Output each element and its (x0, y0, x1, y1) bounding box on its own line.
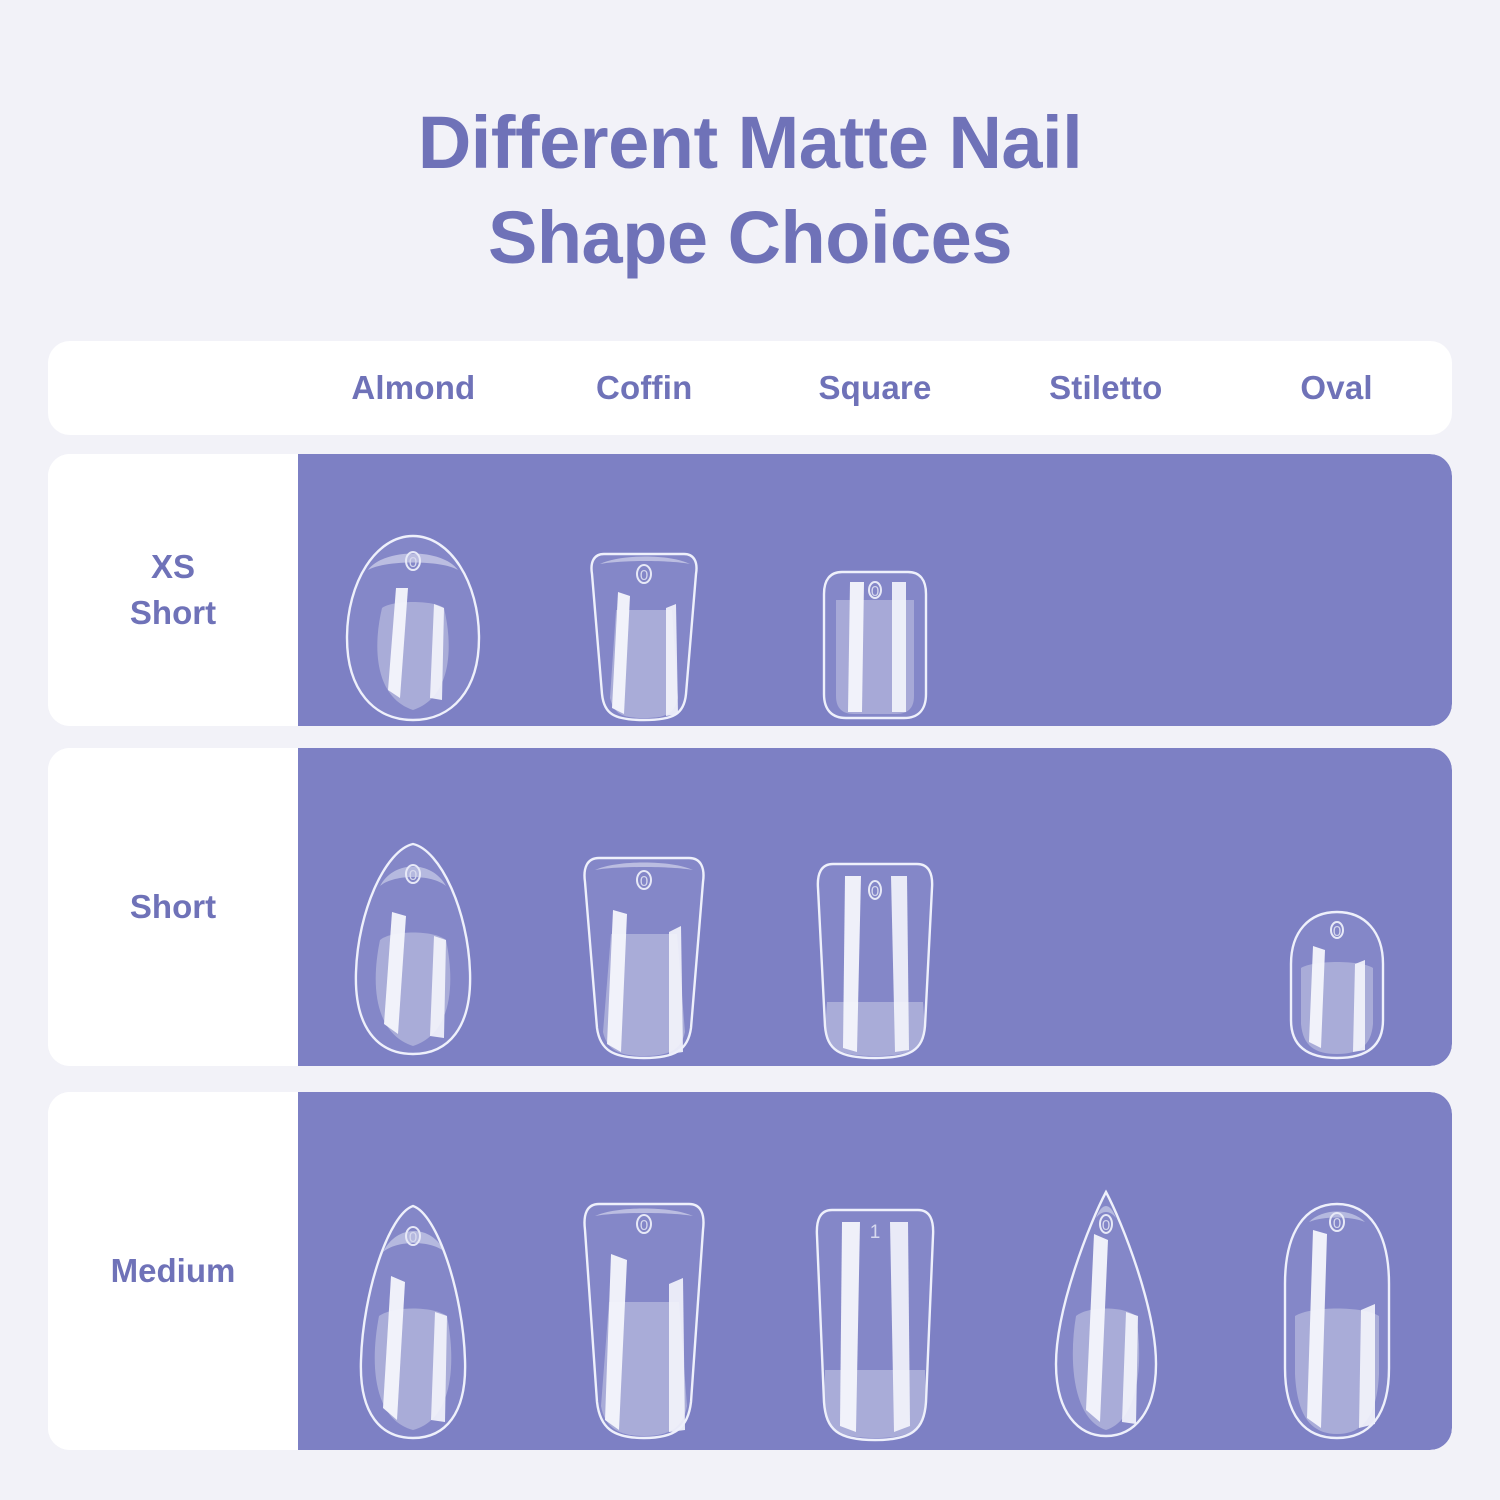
cell-xs-short-coffin: 0 (529, 454, 760, 726)
cell-short-square: 0 (760, 748, 991, 1066)
cell-short-coffin: 0 (529, 748, 760, 1066)
page-title-line-1: Different Matte Nail (418, 101, 1082, 184)
nail-tip-oval-medium: 0 (1273, 1198, 1401, 1450)
column-header-oval: Oval (1221, 369, 1452, 407)
cell-xs-short-almond: 0 (298, 454, 529, 726)
page-title: Different Matte Nail Shape Choices (0, 96, 1500, 285)
nail-size-marking: 0 (1332, 1215, 1340, 1232)
cell-medium-stiletto: 0 (990, 1092, 1221, 1450)
column-header-card: Almond Coffin Square Stiletto Oval (48, 341, 1452, 435)
table-row-short: Short 0 (48, 748, 1452, 1066)
nail-size-marking: 0 (409, 554, 417, 571)
table-row-medium: Medium 0 (48, 1092, 1452, 1450)
row-cells-medium: 0 0 (298, 1092, 1452, 1450)
nail-tip-oval-short: 0 (1281, 906, 1393, 1066)
cell-medium-coffin: 0 (529, 1092, 760, 1450)
row-label-line-2: Short (130, 594, 216, 631)
nail-tip-square-short: 0 (809, 858, 941, 1066)
cell-short-almond: 0 (298, 748, 529, 1066)
row-panel-xs-short: 0 0 (298, 454, 1452, 726)
cell-medium-oval: 0 (1221, 1092, 1452, 1450)
row-panel-medium: 0 0 (298, 1092, 1452, 1450)
cell-short-oval: 0 (1221, 748, 1452, 1066)
row-label-text: Medium (111, 1248, 236, 1294)
nail-size-marking: 0 (640, 1217, 648, 1234)
nail-tip-coffin-xs-short: 0 (574, 548, 714, 726)
nail-size-marking: 0 (1102, 1217, 1110, 1234)
row-cells-short: 0 0 (298, 748, 1452, 1066)
cell-xs-short-square: 0 (760, 454, 991, 726)
column-header-row: Almond Coffin Square Stiletto Oval (298, 341, 1452, 435)
nail-tip-coffin-medium: 0 (569, 1198, 719, 1450)
nail-size-marking: 0 (409, 867, 417, 884)
cell-xs-short-stiletto (990, 454, 1221, 726)
row-label-text: Short (130, 884, 216, 930)
column-header-stiletto: Stiletto (990, 369, 1221, 407)
nail-size-marking: 0 (409, 1229, 417, 1246)
cell-xs-short-oval (1221, 454, 1452, 726)
page-title-line-2: Shape Choices (0, 191, 1500, 286)
nail-tip-stiletto-medium: 0 (1046, 1188, 1166, 1450)
nail-size-marking: 0 (640, 873, 648, 890)
infographic-page: Different Matte Nail Shape Choices Almon… (0, 0, 1500, 1500)
nail-tip-square-medium: 1 (808, 1204, 942, 1450)
nail-tip-almond-medium: 0 (339, 1200, 487, 1450)
table-row-xs-short: XS Short 0 (48, 454, 1452, 726)
row-panel-short: 0 0 (298, 748, 1452, 1066)
column-header-almond: Almond (298, 369, 529, 407)
nail-size-marking: 1 (870, 1222, 881, 1243)
nail-tip-almond-xs-short: 0 (338, 530, 488, 726)
column-header-square: Square (760, 369, 991, 407)
nail-tip-almond-short: 0 (336, 838, 490, 1066)
row-label-short: Short (48, 748, 298, 1066)
nail-size-marking: 0 (871, 883, 879, 900)
row-label-xs-short: XS Short (48, 454, 298, 726)
row-cells-xs-short: 0 0 (298, 454, 1452, 726)
row-label-line-1: XS (151, 548, 195, 585)
nail-size-marking: 0 (871, 583, 879, 600)
cell-short-stiletto (990, 748, 1221, 1066)
nail-size-marking: 0 (1332, 923, 1340, 940)
cell-medium-almond: 0 (298, 1092, 529, 1450)
row-label-medium: Medium (48, 1092, 298, 1450)
cell-medium-square: 1 (760, 1092, 991, 1450)
column-header-coffin: Coffin (529, 369, 760, 407)
nail-size-marking: 0 (640, 567, 648, 584)
nail-tip-coffin-short: 0 (569, 852, 719, 1066)
nail-tip-square-xs-short: 0 (816, 566, 934, 726)
